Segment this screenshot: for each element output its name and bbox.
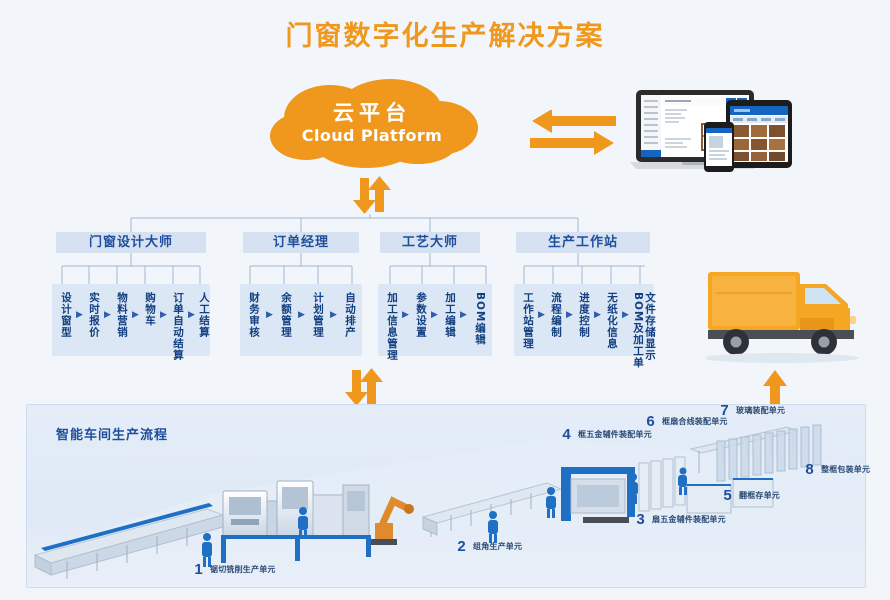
cloud-label-en: Cloud Platform — [262, 126, 482, 146]
module-body-1: 财务审核 ▶ 余额管理 ▶ 计划管理 ▶ 自动排产 — [240, 284, 362, 356]
module-2-item-3[interactable]: BOM编辑 — [474, 292, 486, 345]
module-body-2: 加工信息管理 ▶ 参数设置 ▶ 加工编辑 ▶ BOM编辑 — [378, 284, 492, 356]
cloud-label-cn: 云平台 — [262, 100, 482, 126]
unit-1-number: 1 — [192, 561, 205, 578]
module-3-item-0[interactable]: 工作站管理 — [522, 292, 534, 350]
workshop-unit-5[interactable]: 5 翻框存单元 — [721, 487, 780, 504]
module-0-sep-4: ▶ — [188, 310, 195, 320]
unit-6-number: 6 — [644, 413, 657, 430]
unit-2-number: 2 — [455, 538, 468, 555]
module-3-item-5[interactable]: 文件存储显示 — [644, 292, 656, 361]
cloud-label: 云平台 Cloud Platform — [262, 100, 482, 146]
module-header-2[interactable]: 工艺大师 — [380, 232, 480, 253]
unit-4-number: 4 — [560, 426, 573, 443]
module-3-item-4[interactable]: BOM及加工单 — [632, 292, 644, 368]
unit-3-label: 扇五金辅件装配单元 — [652, 514, 726, 525]
module-1-sep-1: ▶ — [298, 310, 305, 320]
module-0-sep-3: ▶ — [160, 310, 167, 320]
device-mockups — [630, 88, 826, 172]
cloud-updown-arrows — [346, 176, 394, 214]
module-2-sep-0: ▶ — [402, 310, 409, 320]
workshop-unit-8[interactable]: 8 整框包装单元 — [803, 461, 870, 478]
module-2-item-2[interactable]: 加工编辑 — [444, 292, 456, 338]
workshop-unit-1[interactable]: 1 锯切铣削生产单元 — [192, 561, 276, 578]
workshop-title: 智能车间生产流程 — [56, 424, 168, 443]
module-1-sep-0: ▶ — [266, 310, 273, 320]
module-3-sep-0: ▶ — [538, 310, 545, 320]
unit-7-label: 玻璃装配单元 — [736, 405, 785, 416]
module-0-item-3[interactable]: 购物车 — [144, 292, 156, 327]
unit-2-label: 组角生产单元 — [473, 541, 522, 552]
cloud-platform-node: 云平台 Cloud Platform — [262, 78, 482, 176]
workshop-updown-arrows — [338, 368, 386, 406]
module-0-item-0[interactable]: 设计窗型 — [60, 292, 72, 338]
module-0-sep-0: ▶ — [76, 310, 83, 320]
module-3-item-1[interactable]: 流程编制 — [550, 292, 562, 338]
module-0-item-5[interactable]: 人工结算 — [198, 292, 210, 338]
module-header-3[interactable]: 生产工作站 — [516, 232, 650, 253]
module-3-sep-2: ▶ — [594, 310, 601, 320]
unit-3-number: 3 — [634, 511, 647, 528]
workshop-unit-7[interactable]: 7 玻璃装配单元 — [718, 402, 785, 419]
module-1-item-0[interactable]: 财务审核 — [248, 292, 260, 338]
workshop-unit-4[interactable]: 4 框五金辅件装配单元 — [560, 426, 652, 443]
module-body-0: 设计窗型 ▶ 实时报价 ▶ 物料营销 ▶ 购物车 ▶ 订单自动结算 ▶ 人工结算 — [52, 284, 210, 356]
phone-icon — [704, 122, 734, 172]
module-body-3: 工作站管理 ▶ 流程编制 ▶ 进度控制 ▶ 无纸化信息 ▶ BOM及加工单 文件… — [514, 284, 654, 356]
workshop-unit-3[interactable]: 3 扇五金辅件装配单元 — [634, 511, 726, 528]
module-3-item-2[interactable]: 进度控制 — [578, 292, 590, 338]
unit-5-number: 5 — [721, 487, 734, 504]
module-3-sep-3: ▶ — [622, 310, 629, 320]
module-0-item-1[interactable]: 实时报价 — [88, 292, 100, 338]
unit-1-label: 锯切铣削生产单元 — [210, 564, 276, 575]
module-0-sep-1: ▶ — [104, 310, 111, 320]
module-1-item-3[interactable]: 自动排产 — [344, 292, 356, 338]
tablet-icon — [726, 100, 792, 168]
cloud-device-arrows — [528, 110, 618, 156]
unit-8-number: 8 — [803, 461, 816, 478]
unit-8-label: 整框包装单元 — [821, 464, 870, 475]
module-1-item-2[interactable]: 计划管理 — [312, 292, 324, 338]
delivery-truck-illustration — [706, 258, 866, 364]
module-2-sep-1: ▶ — [431, 310, 438, 320]
module-header-0[interactable]: 门窗设计大师 — [56, 232, 206, 253]
unit-7-number: 7 — [718, 402, 731, 419]
module-2-sep-2: ▶ — [460, 310, 467, 320]
module-3-sep-1: ▶ — [566, 310, 573, 320]
workshop-unit-2[interactable]: 2 组角生产单元 — [455, 538, 522, 555]
module-0-item-4[interactable]: 订单自动结算 — [172, 292, 184, 361]
unit-4-label: 框五金辅件装配单元 — [578, 429, 652, 440]
module-header-1[interactable]: 订单经理 — [243, 232, 359, 253]
module-0-sep-2: ▶ — [132, 310, 139, 320]
unit-5-label: 翻框存单元 — [739, 490, 780, 501]
module-3-item-3[interactable]: 无纸化信息 — [606, 292, 618, 350]
module-1-item-1[interactable]: 余额管理 — [280, 292, 292, 338]
module-0-item-2[interactable]: 物料营销 — [116, 292, 128, 338]
module-2-item-1[interactable]: 参数设置 — [415, 292, 427, 338]
page-title: 门窗数字化生产解决方案 — [0, 14, 890, 53]
module-2-item-0[interactable]: 加工信息管理 — [386, 292, 398, 361]
workshop-unit-6[interactable]: 6 框扇合线装配单元 — [644, 413, 728, 430]
module-1-sep-2: ▶ — [330, 310, 337, 320]
